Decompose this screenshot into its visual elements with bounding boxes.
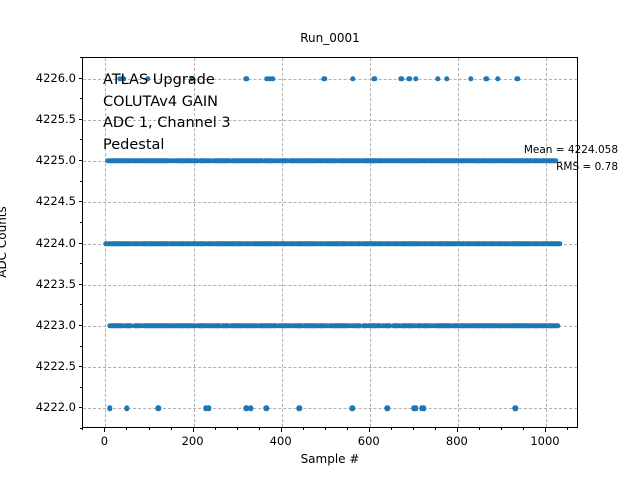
data-point — [270, 76, 275, 81]
y-tick-mark-minor — [80, 428, 82, 429]
y-tick-mark — [79, 407, 83, 408]
x-tick-mark-minor — [523, 428, 524, 430]
y-tick-mark-minor — [80, 181, 82, 182]
data-point — [350, 76, 355, 81]
data-point — [413, 76, 418, 81]
y-tick-mark-minor — [80, 263, 82, 264]
y-tick-label: 4223.5 — [36, 277, 76, 291]
data-point — [468, 76, 473, 81]
x-tick-mark-minor — [126, 428, 127, 430]
data-point — [156, 406, 161, 411]
x-tick-mark — [193, 428, 194, 432]
rms-value-text: RMS = 0.78 — [524, 159, 618, 176]
x-tick-label: 800 — [446, 434, 468, 448]
data-point — [556, 241, 561, 246]
annotation-line-4: Pedestal — [103, 135, 231, 157]
x-tick-mark-minor — [171, 428, 172, 430]
y-tick-mark-minor — [80, 98, 82, 99]
data-point — [399, 76, 404, 81]
data-point — [515, 76, 520, 81]
y-tick-mark-minor — [80, 57, 82, 58]
y-tick-mark-minor — [80, 387, 82, 388]
data-point — [413, 406, 418, 411]
data-point — [484, 76, 489, 81]
data-point — [495, 76, 500, 81]
y-tick-mark — [79, 366, 83, 367]
x-axis-label: Sample # — [82, 452, 578, 466]
annotation-line-2: COLUTAv4 GAIN — [103, 92, 231, 114]
x-tick-mark-minor — [347, 428, 348, 430]
x-tick-mark — [104, 428, 105, 432]
y-tick-mark — [79, 201, 83, 202]
x-tick-label: 600 — [358, 434, 380, 448]
x-tick-mark-minor — [501, 428, 502, 430]
data-point — [107, 406, 112, 411]
y-tick-mark — [79, 284, 83, 285]
x-tick-mark — [369, 428, 370, 432]
x-tick-mark-minor — [479, 428, 480, 430]
x-tick-mark-minor — [259, 428, 260, 430]
data-point — [371, 76, 376, 81]
data-point — [385, 406, 390, 411]
data-point — [248, 406, 253, 411]
figure-canvas: Run_0001 Sample # ADC Counts ATLAS Upgra… — [0, 0, 640, 480]
x-tick-mark-minor — [413, 428, 414, 430]
y-tick-label: 4224.5 — [36, 194, 76, 208]
y-tick-mark — [79, 160, 83, 161]
page-title: Run_0001 — [82, 31, 578, 45]
x-tick-mark-minor — [391, 428, 392, 430]
data-point — [407, 76, 412, 81]
x-tick-mark — [281, 428, 282, 432]
y-tick-label: 4222.5 — [36, 359, 76, 373]
x-tick-label: 0 — [101, 434, 108, 448]
statistics-annotation: Mean = 4224.058RMS = 0.78 — [524, 142, 618, 176]
data-point — [349, 406, 354, 411]
y-tick-mark — [79, 243, 83, 244]
y-tick-label: 4223.0 — [36, 318, 76, 332]
data-point — [512, 406, 517, 411]
annotation-line-3: ADC 1, Channel 3 — [103, 113, 231, 135]
annotation-line-1: ATLAS Upgrade — [103, 70, 231, 92]
y-tick-mark — [79, 119, 83, 120]
gridline-horizontal — [83, 367, 577, 368]
y-tick-label: 4225.0 — [36, 153, 76, 167]
x-tick-mark-minor — [237, 428, 238, 430]
y-tick-mark-minor — [80, 139, 82, 140]
data-point — [124, 406, 129, 411]
x-tick-mark — [545, 428, 546, 432]
gridline-horizontal — [83, 285, 577, 286]
y-tick-mark — [79, 78, 83, 79]
x-tick-mark-minor — [567, 428, 568, 430]
x-tick-mark-minor — [303, 428, 304, 430]
data-point — [297, 406, 302, 411]
annotation-text-block: ATLAS UpgradeCOLUTAv4 GAINADC 1, Channel… — [103, 70, 231, 156]
y-tick-label: 4225.5 — [36, 112, 76, 126]
y-tick-label: 4226.0 — [36, 71, 76, 85]
data-point — [206, 406, 211, 411]
x-tick-mark-minor — [82, 428, 83, 430]
data-point — [444, 76, 449, 81]
x-tick-label: 1000 — [530, 434, 559, 448]
y-tick-mark — [79, 325, 83, 326]
data-point — [421, 406, 426, 411]
mean-value-text: Mean = 4224.058 — [524, 142, 618, 159]
x-tick-label: 400 — [270, 434, 292, 448]
x-tick-label: 200 — [182, 434, 204, 448]
data-point — [555, 323, 560, 328]
y-axis-label: ADC Counts — [0, 206, 9, 278]
data-point — [244, 76, 249, 81]
gridline-horizontal — [83, 202, 577, 203]
x-tick-mark-minor — [325, 428, 326, 430]
x-tick-mark — [457, 428, 458, 432]
y-tick-mark-minor — [80, 346, 82, 347]
data-point — [264, 406, 269, 411]
y-tick-mark-minor — [80, 304, 82, 305]
x-tick-mark-minor — [435, 428, 436, 430]
y-tick-label: 4222.0 — [36, 400, 76, 414]
data-point — [435, 76, 440, 81]
x-tick-mark-minor — [149, 428, 150, 430]
data-point — [322, 76, 327, 81]
y-tick-label: 4224.0 — [36, 236, 76, 250]
x-tick-mark-minor — [215, 428, 216, 430]
y-tick-mark-minor — [80, 222, 82, 223]
